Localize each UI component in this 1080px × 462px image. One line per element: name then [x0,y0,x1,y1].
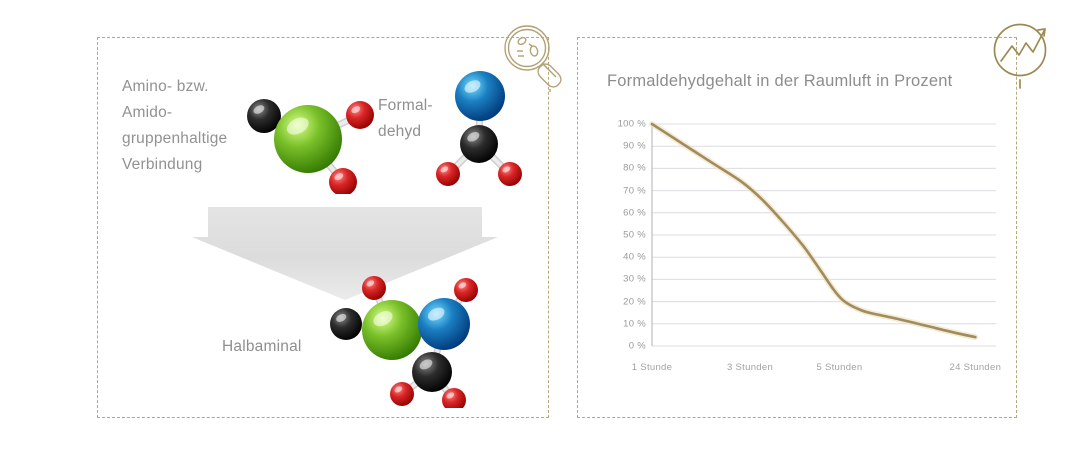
y-axis-tick: 90 % [623,141,646,152]
magnifier-molecules-icon [498,20,570,92]
y-axis-tick: 40 % [623,252,646,263]
y-axis-tick: 0 % [629,341,646,352]
formaldehyd-line-1: Formal- [378,93,433,119]
chart-title: Formaldehydgehalt in der Raumluft in Pro… [607,72,952,91]
y-axis-tick: 80 % [623,163,646,174]
chart-plot [600,118,1000,380]
y-axis-tick: 70 % [623,185,646,196]
y-axis-tick: 100 % [618,119,646,130]
y-axis-tick: 10 % [623,318,646,329]
y-axis-tick: 20 % [623,296,646,307]
x-axis-tick: 3 Stunden [727,362,773,373]
x-axis-tick: 1 Stunde [632,362,672,373]
y-axis-tick: 30 % [623,274,646,285]
y-axis-tick: 60 % [623,207,646,218]
halbaminal-label: Halbaminal [222,338,302,356]
slide-canvas: Amino- bzw. Amido- gruppenhaltige Verbin… [0,0,1080,462]
formaldehyd-label: Formal- dehyd [378,93,433,145]
x-axis-tick: 24 Stunden [950,362,1002,373]
x-axis-tick: 5 Stunden [816,362,862,373]
amine-compound-molecule [238,82,383,194]
line-chart: 100 %90 %80 %70 %60 %50 %40 %30 %20 %10 … [600,118,1000,380]
trend-circle-icon [988,18,1060,90]
y-axis-tick: 50 % [623,230,646,241]
formaldehyd-line-2: dehyd [378,119,433,145]
halbaminal-molecule [322,272,504,408]
